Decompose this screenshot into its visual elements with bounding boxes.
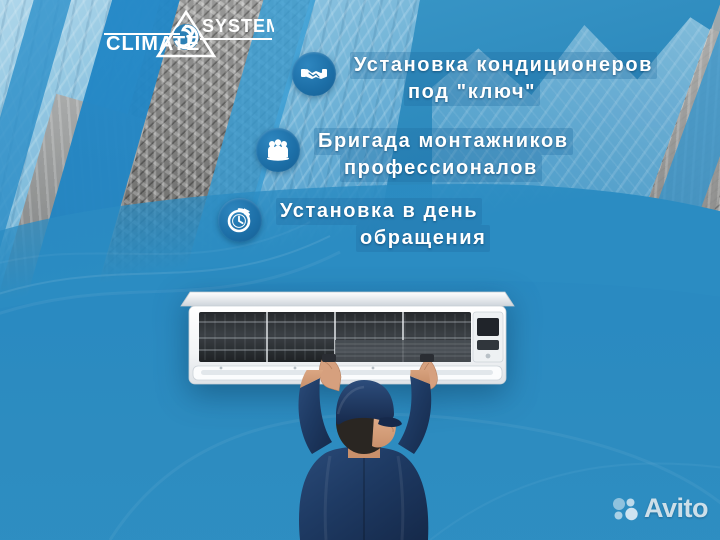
feature-line-2: профессионалов — [340, 155, 542, 182]
logo-word-climate: CLIMATE — [106, 33, 200, 55]
feature-item-professional-team: Бригада монтажников профессионалов — [256, 128, 573, 182]
avito-dots-logo-icon — [612, 496, 638, 522]
feature-item-same-day-installation: Установка в день обращения — [218, 198, 490, 252]
avito-wordmark: Avito — [644, 495, 708, 522]
feature-line-1: Установка в день — [276, 198, 482, 225]
feature-line-2: под "ключ" — [404, 79, 540, 106]
team-group-icon — [256, 128, 300, 172]
clock-fast-icon — [218, 198, 262, 242]
feature-text-block: Установка в день обращения — [276, 198, 490, 252]
arm-right — [398, 376, 431, 454]
company-logo: CLIMATE SYSTEMS — [98, 6, 274, 62]
handshake-icon — [292, 52, 336, 96]
feature-text-block: Установка кондиционеров под "ключ" — [350, 52, 657, 106]
arm-left — [299, 378, 333, 454]
feature-line-2: обращения — [356, 225, 490, 252]
feature-text-block: Бригада монтажников профессионалов — [314, 128, 573, 182]
feature-item-turnkey-installation: Установка кондиционеров под "ключ" — [292, 52, 657, 106]
logo-word-systems: SYSTEMS — [202, 16, 274, 36]
feature-line-1: Бригада монтажников — [314, 128, 573, 155]
advertisement-banner: CLIMATE SYSTEMS Установка кондиционеров … — [0, 0, 720, 540]
avito-watermark: Avito — [612, 495, 708, 522]
feature-line-1: Установка кондиционеров — [350, 52, 657, 79]
technician-figure — [238, 370, 488, 540]
